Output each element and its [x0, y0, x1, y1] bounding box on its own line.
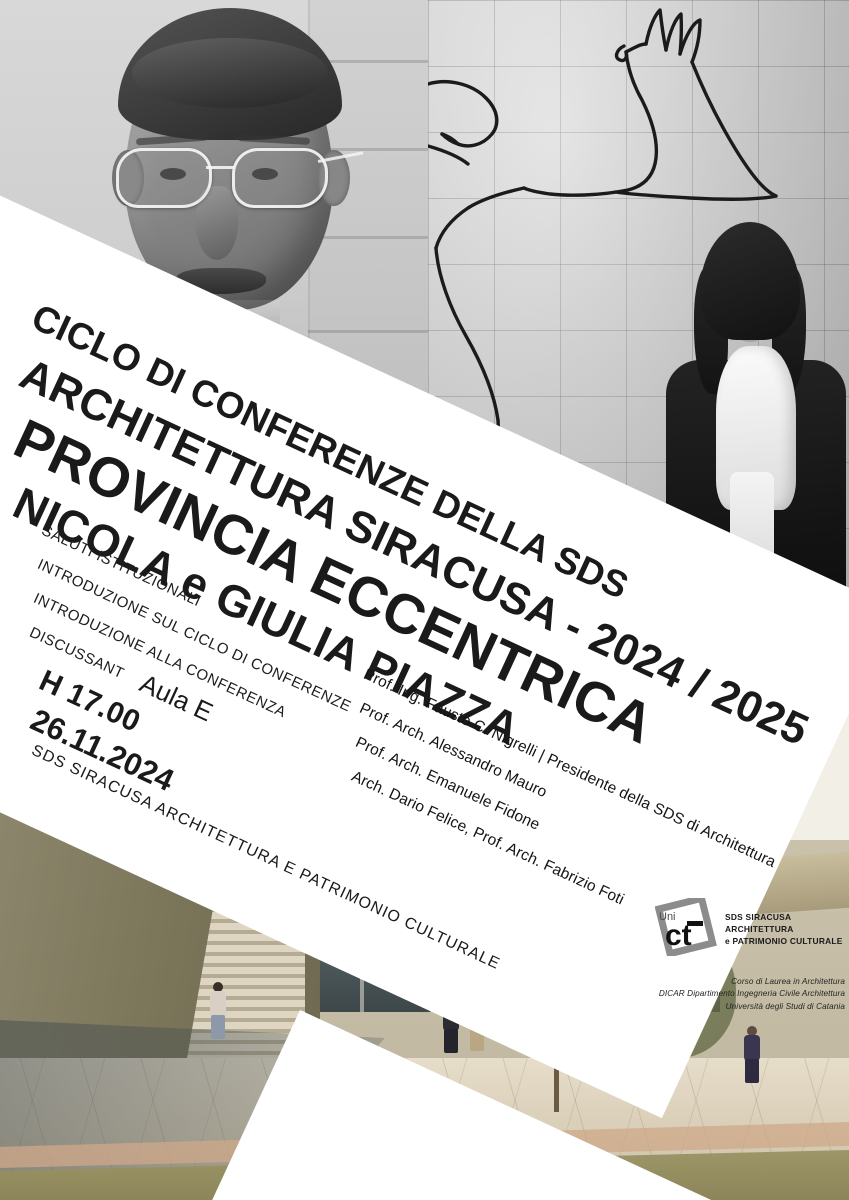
- conference-poster: CICLO DI CONFERENZE DELLA SDS ARCHITETTU…: [0, 0, 849, 1200]
- logo-block: Uni ct SDS SIRACUSA ARCHITETTURA e PATRI…: [655, 898, 845, 1018]
- credit-line-1: Corso di Laurea in Architettura: [655, 976, 845, 988]
- logo-name-line-1: SDS SIRACUSA: [725, 911, 843, 923]
- poster-text-layer: CICLO DI CONFERENZE DELLA SDS ARCHITETTU…: [0, 0, 849, 1200]
- logo-name-line-2: ARCHITETTURA: [725, 923, 843, 935]
- logo-row: Uni ct SDS SIRACUSA ARCHITETTURA e PATRI…: [655, 898, 845, 956]
- person-felice-foti: Arch. Dario Felice, Prof. Arch. Fabrizio…: [348, 768, 626, 909]
- credit-line-3: Università degli Studi di Catania: [655, 1001, 845, 1013]
- institution-credits: Corso di Laurea in Architettura DICAR Di…: [655, 976, 845, 1013]
- logo-wordmark: SDS SIRACUSA ARCHITETTURA e PATRIMONIO C…: [725, 907, 843, 948]
- unict-logo-icon: Uni ct: [655, 898, 717, 956]
- logo-name-line-3: e PATRIMONIO CULTURALE: [725, 935, 843, 947]
- credit-line-2: DICAR Dipartimento Ingegneria Civile Arc…: [655, 988, 845, 1000]
